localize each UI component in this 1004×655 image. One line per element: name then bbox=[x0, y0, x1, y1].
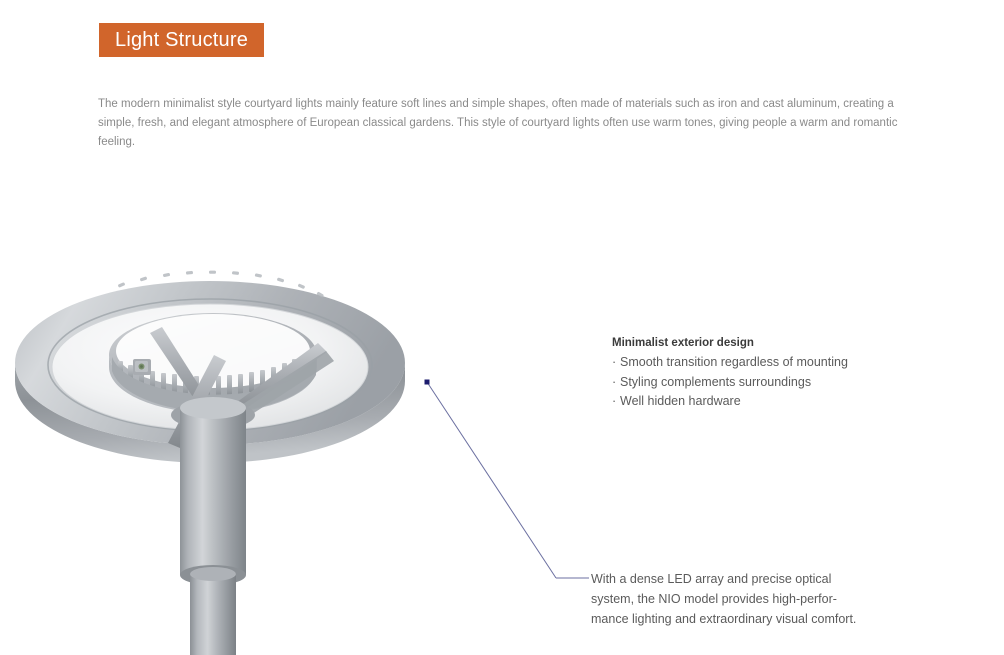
feature-callout-heading: Minimalist exterior design bbox=[612, 334, 942, 352]
bullet-glyph: · bbox=[612, 373, 620, 393]
leader-anchor-dot bbox=[425, 380, 430, 385]
feature-bullet-list: ·Smooth transition regardless of mountin… bbox=[612, 353, 942, 412]
page-title: Light Structure bbox=[115, 30, 248, 50]
lamp-pole-shaft bbox=[190, 573, 236, 655]
led-leader-line bbox=[425, 380, 590, 579]
lamp-head-group bbox=[15, 271, 405, 655]
list-item-label: Styling complements surroundings bbox=[620, 375, 811, 389]
lamp-pole-collar bbox=[180, 402, 246, 581]
bullet-glyph: · bbox=[612, 353, 620, 373]
intro-paragraph: The modern minimalist style courtyard li… bbox=[98, 95, 910, 152]
page-title-banner: Light Structure bbox=[99, 23, 264, 57]
list-item: ·Well hidden hardware bbox=[612, 392, 942, 412]
lamp-pole-shaft-top bbox=[190, 567, 236, 581]
led-caption: With a dense LED array and precise optic… bbox=[591, 569, 911, 629]
led-caption-line: With a dense LED array and precise optic… bbox=[591, 569, 911, 589]
list-item-label: Well hidden hardware bbox=[620, 394, 741, 408]
lamp-illustration bbox=[0, 215, 620, 655]
lamp-hub-bracket bbox=[133, 359, 151, 375]
lamp-collar-top bbox=[180, 397, 246, 419]
led-caption-line: mance lighting and extraordinary visual … bbox=[591, 609, 911, 629]
led-caption-line: system, the NIO model provides high-perf… bbox=[591, 589, 911, 609]
leader-line-diagonal bbox=[427, 382, 556, 578]
list-item: ·Smooth transition regardless of mountin… bbox=[612, 353, 942, 373]
list-item: ·Styling complements surroundings bbox=[612, 373, 942, 393]
list-item-label: Smooth transition regardless of mounting bbox=[620, 355, 848, 369]
feature-callout: Minimalist exterior design ·Smooth trans… bbox=[612, 334, 942, 412]
bullet-glyph: · bbox=[612, 392, 620, 412]
